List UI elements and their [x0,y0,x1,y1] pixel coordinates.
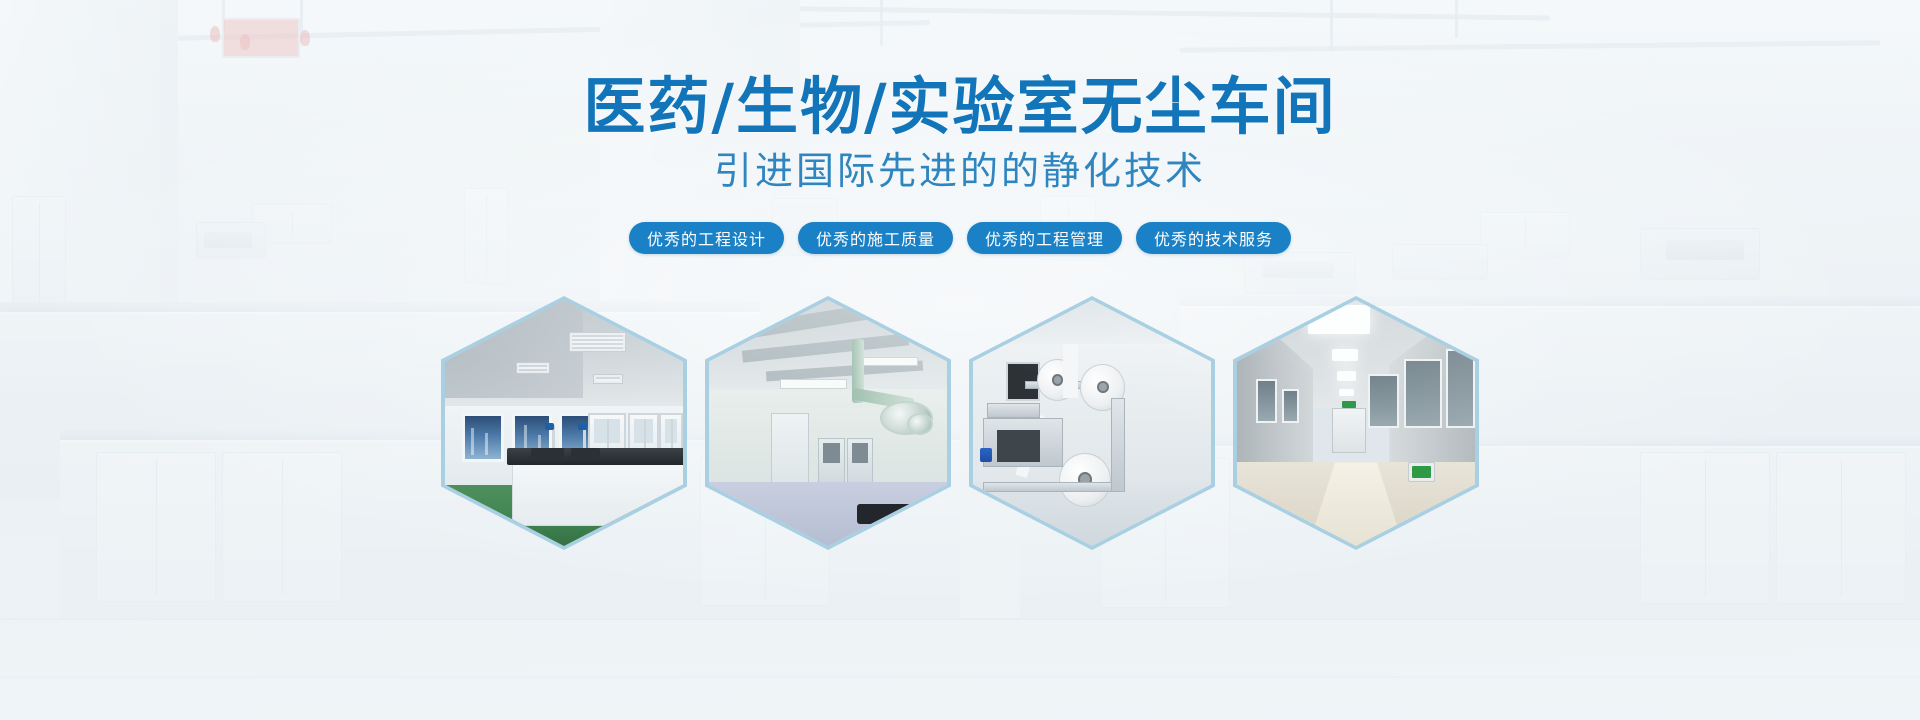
access-control-pad [1408,462,1434,482]
feature-badge-list: 优秀的工程设计 优秀的施工质量 优秀的工程管理 优秀的技术服务 [0,222,1920,254]
hexagon-operating-room[interactable] [705,296,951,550]
badge-construction-quality[interactable]: 优秀的施工质量 [798,222,953,254]
page-title: 医药/生物/实验室无尘车间 [0,74,1920,139]
cleanroom-hero-banner: 医药/生物/实验室无尘车间 引进国际先进的的静化技术 优秀的工程设计 优秀的施工… [0,0,1920,720]
badge-project-management[interactable]: 优秀的工程管理 [967,222,1122,254]
laboratory-scene-image [445,300,683,546]
badge-technical-service[interactable]: 优秀的技术服务 [1136,222,1291,254]
hexagon-gallery [0,296,1920,550]
hexagon-cleanroom-corridor[interactable] [1233,296,1479,550]
page-subtitle: 引进国际先进的的静化技术 [0,150,1920,194]
badge-engineering-design[interactable]: 优秀的工程设计 [629,222,784,254]
operating-room-scene-image [709,300,947,546]
production-machinery-scene-image [973,300,1211,546]
cleanroom-corridor-scene-image [1237,300,1475,546]
hexagon-laboratory[interactable] [441,296,687,550]
hexagon-production-machinery[interactable] [969,296,1215,550]
